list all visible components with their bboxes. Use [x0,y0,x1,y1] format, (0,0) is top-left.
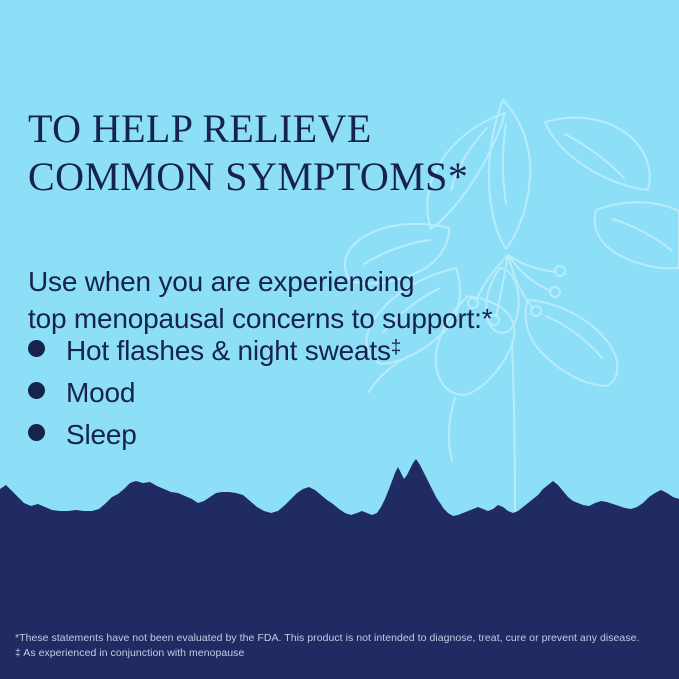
bullet-dot-icon [28,382,45,399]
bullet-dot-icon [28,424,45,441]
list-item-label: Sleep [66,419,137,450]
list-item-label: Hot flashes & night sweats [66,335,391,366]
promo-poster: TO HELP RELIEVE COMMON SYMPTOMS* Use whe… [0,0,679,679]
footnotes: *These statements have not been evaluate… [15,631,675,661]
intro-text: Use when you are experiencing top menopa… [28,263,628,337]
list-item-label: Mood [66,377,135,408]
page-title: TO HELP RELIEVE COMMON SYMPTOMS* [28,105,548,201]
list-item: Sleep [28,411,608,453]
benefit-list: Hot flashes & night sweats‡ Mood Sleep [28,327,608,453]
footnote-menopause-note: ‡ As experienced in conjunction with men… [15,646,675,661]
poster-content: TO HELP RELIEVE COMMON SYMPTOMS* Use whe… [0,0,679,679]
list-item: Mood [28,369,608,411]
footnote-fda-disclaimer: *These statements have not been evaluate… [15,631,675,646]
list-item: Hot flashes & night sweats‡ [28,327,608,369]
double-dagger-marker: ‡ [391,337,401,358]
bullet-dot-icon [28,340,45,357]
